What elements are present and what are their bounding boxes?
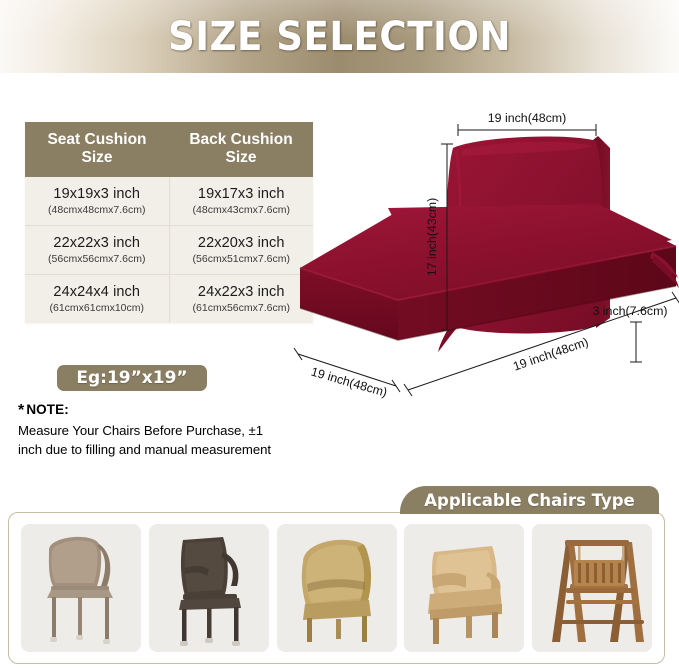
dim-seat-width: 19 inch(48cm) [309,365,388,400]
table-row: 19x19x3 inch (48cmx48cmx7.6cm) 19x17x3 i… [25,177,313,226]
example-size-badge: Eg:19”x19” [57,365,207,391]
note-heading: *NOTE: [18,402,283,420]
asterisk-icon: * [18,402,24,419]
note-line-2: inch due to filling and manual measureme… [18,442,271,457]
seat-size-inch: 24x24x4 inch [29,284,165,300]
cushion-diagram: 19 inch(48cm) 17 inch(43cm) 3 inch(7.6cm… [280,100,679,480]
table-header-row: Seat Cushion Size Back Cushion Size [25,122,313,177]
seat-size-cell: 24x24x4 inch (61cmx61cmx10cm) [25,274,169,323]
page-title: SIZE SELECTION [24,0,655,73]
seat-size-inch: 22x22x3 inch [29,235,165,251]
wooden-porch-swing-icon [532,524,652,652]
applicable-chairs-tab: Applicable Chairs Type [400,486,659,514]
note-line-1: Measure Your Chairs Before Purchase, ±1 [18,423,263,438]
column-header-seat-cushion: Seat Cushion Size [25,122,169,177]
seat-size-cm: (48cmx48cmx7.6cm) [29,204,165,216]
seat-size-cm: (61cmx61cmx10cm) [29,302,165,314]
note-heading-text: NOTE: [26,402,69,417]
table-row: 22x22x3 inch (56cmx56cmx7.6cm) 22x20x3 i… [25,225,313,274]
dim-back-width: 19 inch(48cm) [488,111,567,125]
seat-size-cm: (56cmx56cmx7.6cm) [29,253,165,265]
tan-wicker-barrel-chair-icon [277,524,397,652]
chair-thumbnail-4 [404,524,524,652]
chair-thumbnail-5 [532,524,652,652]
seat-size-inch: 19x19x3 inch [29,186,165,202]
table-row: 24x24x4 inch (61cmx61cmx10cm) 24x22x3 in… [25,274,313,323]
seat-size-cell: 22x22x3 inch (56cmx56cmx7.6cm) [25,225,169,274]
size-chart-table: Seat Cushion Size Back Cushion Size 19x1… [25,122,313,323]
chair-thumbnail-1 [21,524,141,652]
chair-thumbnail-3 [277,524,397,652]
rattan-round-back-stacking-chair-icon [21,524,141,652]
header-banner: SIZE SELECTION [0,0,679,73]
chair-thumbnail-2 [149,524,269,652]
seat-size-cell: 19x19x3 inch (48cmx48cmx7.6cm) [25,177,169,226]
dim-back-height: 17 inch(43cm) [425,198,439,277]
applicable-chairs-container [8,512,665,664]
column-header-seat-line1: Seat Cushion [29,131,165,149]
dim-thickness: 3 inch(7.6cm) [592,304,667,318]
dark-wicker-high-back-armchair-icon [149,524,269,652]
column-header-seat-line2: Size [29,149,165,167]
note-text: Measure Your Chairs Before Purchase, ±1 … [18,422,283,459]
natural-wicker-armchair-icon [404,524,524,652]
note-block: *NOTE: Measure Your Chairs Before Purcha… [18,402,283,460]
